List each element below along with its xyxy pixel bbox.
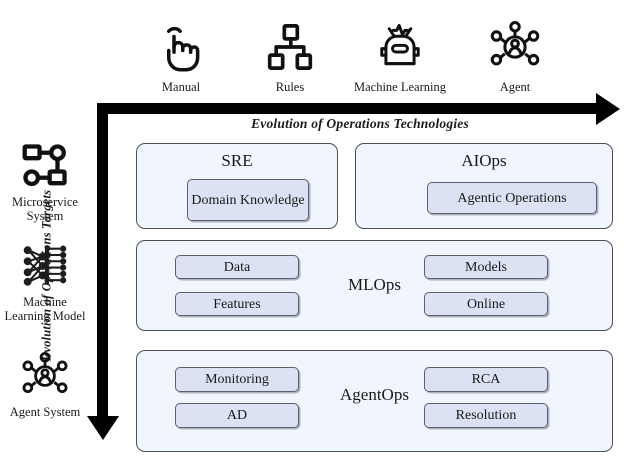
pill-data[interactable]: Data — [175, 255, 299, 279]
left-axis-label: Microservice System — [2, 195, 88, 223]
vertical-axis-arrowhead — [87, 416, 119, 440]
left-axis-item-microservice-system: Microservice System — [2, 138, 88, 223]
pill-rca[interactable]: RCA — [424, 367, 548, 392]
horizontal-axis-label: Evolution of Operations Technologies — [150, 116, 570, 132]
pill-models[interactable]: Models — [424, 255, 548, 279]
top-axis-item-manual: Manual — [121, 16, 241, 95]
pill-online[interactable]: Online — [424, 292, 548, 316]
microservice-nodes-icon — [2, 138, 88, 194]
diagram-canvas: Manual Rules Machine Learning — [0, 0, 642, 464]
left-axis-item-agent-system: Agent System — [2, 348, 88, 419]
top-axis-item-machine-learning: Machine Learning — [340, 16, 460, 95]
top-axis-label: Manual — [121, 80, 241, 95]
card-title: SRE — [137, 151, 337, 171]
card-title: AIOps — [356, 151, 612, 171]
hierarchy-tree-icon — [230, 16, 350, 78]
top-axis-label: Machine Learning — [340, 80, 460, 95]
agent-network-icon — [2, 348, 88, 404]
top-axis-item-agent: Agent — [455, 16, 575, 95]
pill-resolution[interactable]: Resolution — [424, 403, 548, 428]
horizontal-axis-line — [97, 103, 599, 114]
card-mlops: MLOps — [136, 240, 613, 331]
left-axis-label: Agent System — [2, 405, 88, 419]
pill-ad[interactable]: AD — [175, 403, 299, 428]
vertical-axis-line — [97, 103, 108, 419]
top-axis-label: Agent — [455, 80, 575, 95]
card-agentops: AgentOps — [136, 350, 613, 452]
horizontal-axis-arrowhead — [596, 93, 620, 125]
left-axis-label: Machine Learning Model — [2, 295, 88, 323]
top-axis-item-rules: Rules — [230, 16, 350, 95]
pill-agentic-operations[interactable]: Agentic Operations — [427, 182, 597, 214]
hand-pointer-icon — [121, 16, 241, 78]
pill-features[interactable]: Features — [175, 292, 299, 316]
robot-icon — [340, 16, 460, 78]
neural-network-icon — [2, 238, 88, 294]
left-axis-item-machine-learning-model: Machine Learning Model — [2, 238, 88, 323]
top-axis-label: Rules — [230, 80, 350, 95]
pill-domain-knowledge[interactable]: Domain Knowledge — [187, 179, 309, 221]
agent-network-icon — [455, 16, 575, 78]
pill-monitoring[interactable]: Monitoring — [175, 367, 299, 392]
